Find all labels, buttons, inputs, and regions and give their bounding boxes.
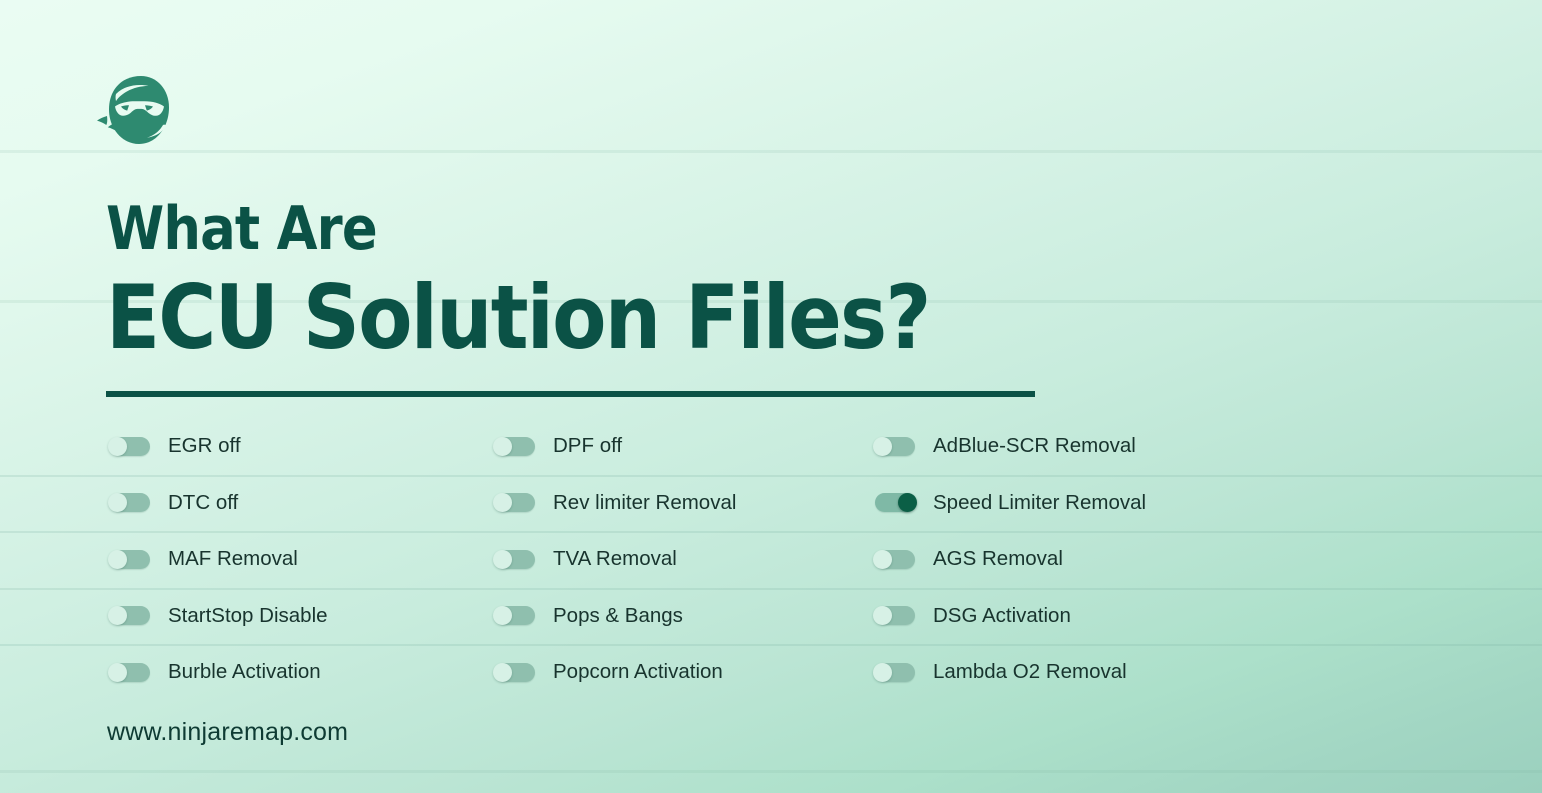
feature-label: AGS Removal bbox=[933, 547, 1063, 571]
feature-label: Popcorn Activation bbox=[553, 660, 723, 684]
background-band bbox=[0, 770, 1542, 773]
feature-item[interactable]: TVA Removal bbox=[495, 547, 875, 571]
toggle-off-icon[interactable] bbox=[495, 550, 535, 569]
feature-label: MAF Removal bbox=[168, 547, 298, 571]
site-url[interactable]: www.ninjaremap.com bbox=[107, 718, 348, 747]
toggle-knob bbox=[873, 663, 892, 682]
row-separator bbox=[0, 644, 1542, 646]
feature-row: StartStop DisablePops & BangsDSG Activat… bbox=[0, 588, 1542, 645]
feature-row: DTC offRev limiter RemovalSpeed Limiter … bbox=[0, 475, 1542, 532]
feature-toggle-grid: EGR offDPF offAdBlue-SCR RemovalDTC offR… bbox=[0, 418, 1542, 701]
toggle-off-icon[interactable] bbox=[875, 663, 915, 682]
feature-label: TVA Removal bbox=[553, 547, 677, 571]
feature-item[interactable]: DTC off bbox=[110, 491, 495, 515]
feature-row: EGR offDPF offAdBlue-SCR Removal bbox=[0, 418, 1542, 475]
poster-canvas: What Are ECU Solution Files? EGR offDPF … bbox=[0, 0, 1542, 793]
feature-item[interactable]: MAF Removal bbox=[110, 547, 495, 571]
title-main: ECU Solution Files? bbox=[106, 270, 1006, 366]
feature-label: Rev limiter Removal bbox=[553, 491, 736, 515]
feature-item[interactable]: Rev limiter Removal bbox=[495, 491, 875, 515]
toggle-knob bbox=[108, 437, 127, 456]
toggle-off-icon[interactable] bbox=[110, 437, 150, 456]
feature-label: DPF off bbox=[553, 434, 622, 458]
toggle-knob bbox=[108, 663, 127, 682]
feature-item[interactable]: EGR off bbox=[110, 434, 495, 458]
feature-label: EGR off bbox=[168, 434, 241, 458]
feature-item[interactable]: Speed Limiter Removal bbox=[875, 491, 1295, 515]
toggle-off-icon[interactable] bbox=[495, 437, 535, 456]
toggle-knob bbox=[898, 493, 917, 512]
toggle-knob bbox=[493, 550, 512, 569]
toggle-knob bbox=[873, 437, 892, 456]
toggle-knob bbox=[108, 606, 127, 625]
title-underline-rule bbox=[106, 391, 1035, 397]
feature-item[interactable]: StartStop Disable bbox=[110, 604, 495, 628]
title-kicker: What Are bbox=[106, 196, 986, 262]
row-separator bbox=[0, 588, 1542, 590]
feature-label: DTC off bbox=[168, 491, 238, 515]
feature-label: Burble Activation bbox=[168, 660, 321, 684]
feature-label: Lambda O2 Removal bbox=[933, 660, 1127, 684]
toggle-knob bbox=[493, 606, 512, 625]
toggle-off-icon[interactable] bbox=[875, 550, 915, 569]
feature-item[interactable]: Pops & Bangs bbox=[495, 604, 875, 628]
feature-item[interactable]: Burble Activation bbox=[110, 660, 495, 684]
feature-row: MAF RemovalTVA RemovalAGS Removal bbox=[0, 531, 1542, 588]
feature-row: Burble ActivationPopcorn ActivationLambd… bbox=[0, 644, 1542, 701]
toggle-off-icon[interactable] bbox=[875, 606, 915, 625]
toggle-off-icon[interactable] bbox=[110, 550, 150, 569]
feature-item[interactable]: Popcorn Activation bbox=[495, 660, 875, 684]
feature-label: StartStop Disable bbox=[168, 604, 328, 628]
toggle-off-icon[interactable] bbox=[110, 606, 150, 625]
feature-item[interactable]: AdBlue-SCR Removal bbox=[875, 434, 1295, 458]
toggle-off-icon[interactable] bbox=[110, 493, 150, 512]
toggle-knob bbox=[493, 437, 512, 456]
toggle-on-icon[interactable] bbox=[875, 493, 915, 512]
toggle-off-icon[interactable] bbox=[495, 663, 535, 682]
toggle-off-icon[interactable] bbox=[495, 493, 535, 512]
toggle-knob bbox=[493, 493, 512, 512]
toggle-knob bbox=[108, 550, 127, 569]
feature-item[interactable]: Lambda O2 Removal bbox=[875, 660, 1295, 684]
row-separator bbox=[0, 531, 1542, 533]
feature-item[interactable]: DPF off bbox=[495, 434, 875, 458]
toggle-knob bbox=[873, 606, 892, 625]
toggle-knob bbox=[493, 663, 512, 682]
feature-label: Speed Limiter Removal bbox=[933, 491, 1146, 515]
feature-item[interactable]: AGS Removal bbox=[875, 547, 1295, 571]
toggle-knob bbox=[873, 550, 892, 569]
row-separator bbox=[0, 475, 1542, 477]
page-title: What Are ECU Solution Files? bbox=[106, 196, 1106, 366]
feature-label: AdBlue-SCR Removal bbox=[933, 434, 1136, 458]
background-band bbox=[0, 150, 1542, 153]
ninja-mask-icon bbox=[95, 68, 179, 152]
feature-item[interactable]: DSG Activation bbox=[875, 604, 1295, 628]
toggle-off-icon[interactable] bbox=[110, 663, 150, 682]
feature-label: Pops & Bangs bbox=[553, 604, 683, 628]
toggle-off-icon[interactable] bbox=[875, 437, 915, 456]
feature-label: DSG Activation bbox=[933, 604, 1071, 628]
toggle-knob bbox=[108, 493, 127, 512]
toggle-off-icon[interactable] bbox=[495, 606, 535, 625]
